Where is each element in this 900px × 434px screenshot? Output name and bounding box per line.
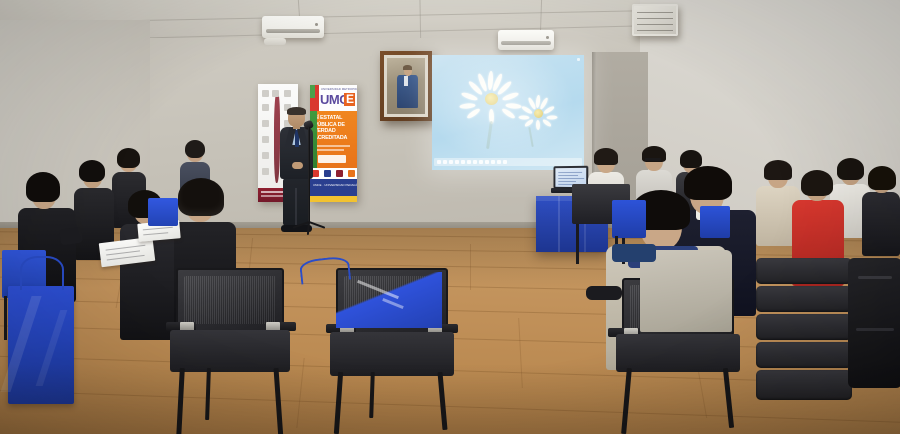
puffer-jacket: [756, 258, 852, 408]
mic-tripod-base: [309, 221, 310, 222]
portrait-canvas: [387, 58, 425, 114]
projection-screen: [432, 55, 584, 170]
ac-pipe: [264, 38, 286, 45]
tote-bag-foreground-left[interactable]: [8, 286, 74, 404]
banner-umce-sponsor-logos: [310, 168, 357, 179]
ceiling-vent-icon: [632, 4, 678, 36]
chair-blue-left-2[interactable]: [148, 198, 178, 238]
split-ac-right-icon: [498, 30, 554, 50]
attendee-right-9: [862, 166, 900, 256]
projected-desktop: [432, 55, 584, 170]
framed-portrait: [380, 51, 432, 121]
grey-coat: [640, 250, 732, 332]
portrait-mat: [384, 55, 428, 117]
banner-umce-tagline: UNIVERSIDAD METROPOLITANA DE CIENCIAS DE…: [321, 88, 357, 91]
tote-handle-left: [20, 256, 64, 290]
microphone-stand: [308, 127, 310, 223]
banner-umce-headline: SÍ ESTATAL PÚBLICA DE VERDAD ACREDITADA: [314, 115, 353, 141]
banner-umce-footer: UMCE · UNIVERSIDAD PEDAGÓGICA NACIONAL: [310, 179, 357, 196]
projected-taskbar: [434, 158, 582, 166]
banner-umce: UNIVERSIDAD METROPOLITANA DE CIENCIAS DE…: [310, 85, 357, 202]
split-ac-left-icon: [262, 16, 324, 38]
backpack-right[interactable]: [848, 258, 900, 388]
tote-bag-on-chair[interactable]: [336, 272, 442, 328]
banner-umce-footer-text: UMCE · UNIVERSIDAD PEDAGÓGICA NACIONAL: [313, 183, 357, 187]
banner-umce-wordmark-e: E: [346, 93, 354, 106]
shoe-right: [586, 286, 622, 300]
glasses-icon: [645, 158, 661, 161]
jeans-right: [612, 244, 656, 262]
banner-umce-panel: SÍ ESTATAL PÚBLICA DE VERDAD ACREDITADA: [310, 111, 357, 168]
chair-blue-right-3[interactable]: [700, 206, 730, 254]
screen-corner-indicator: [577, 58, 580, 61]
conference-room-photo: UNIVERSIDAD METROPOLITANA DE CIENCIAS DE…: [0, 0, 900, 434]
empty-chair-left[interactable]: [166, 268, 294, 434]
